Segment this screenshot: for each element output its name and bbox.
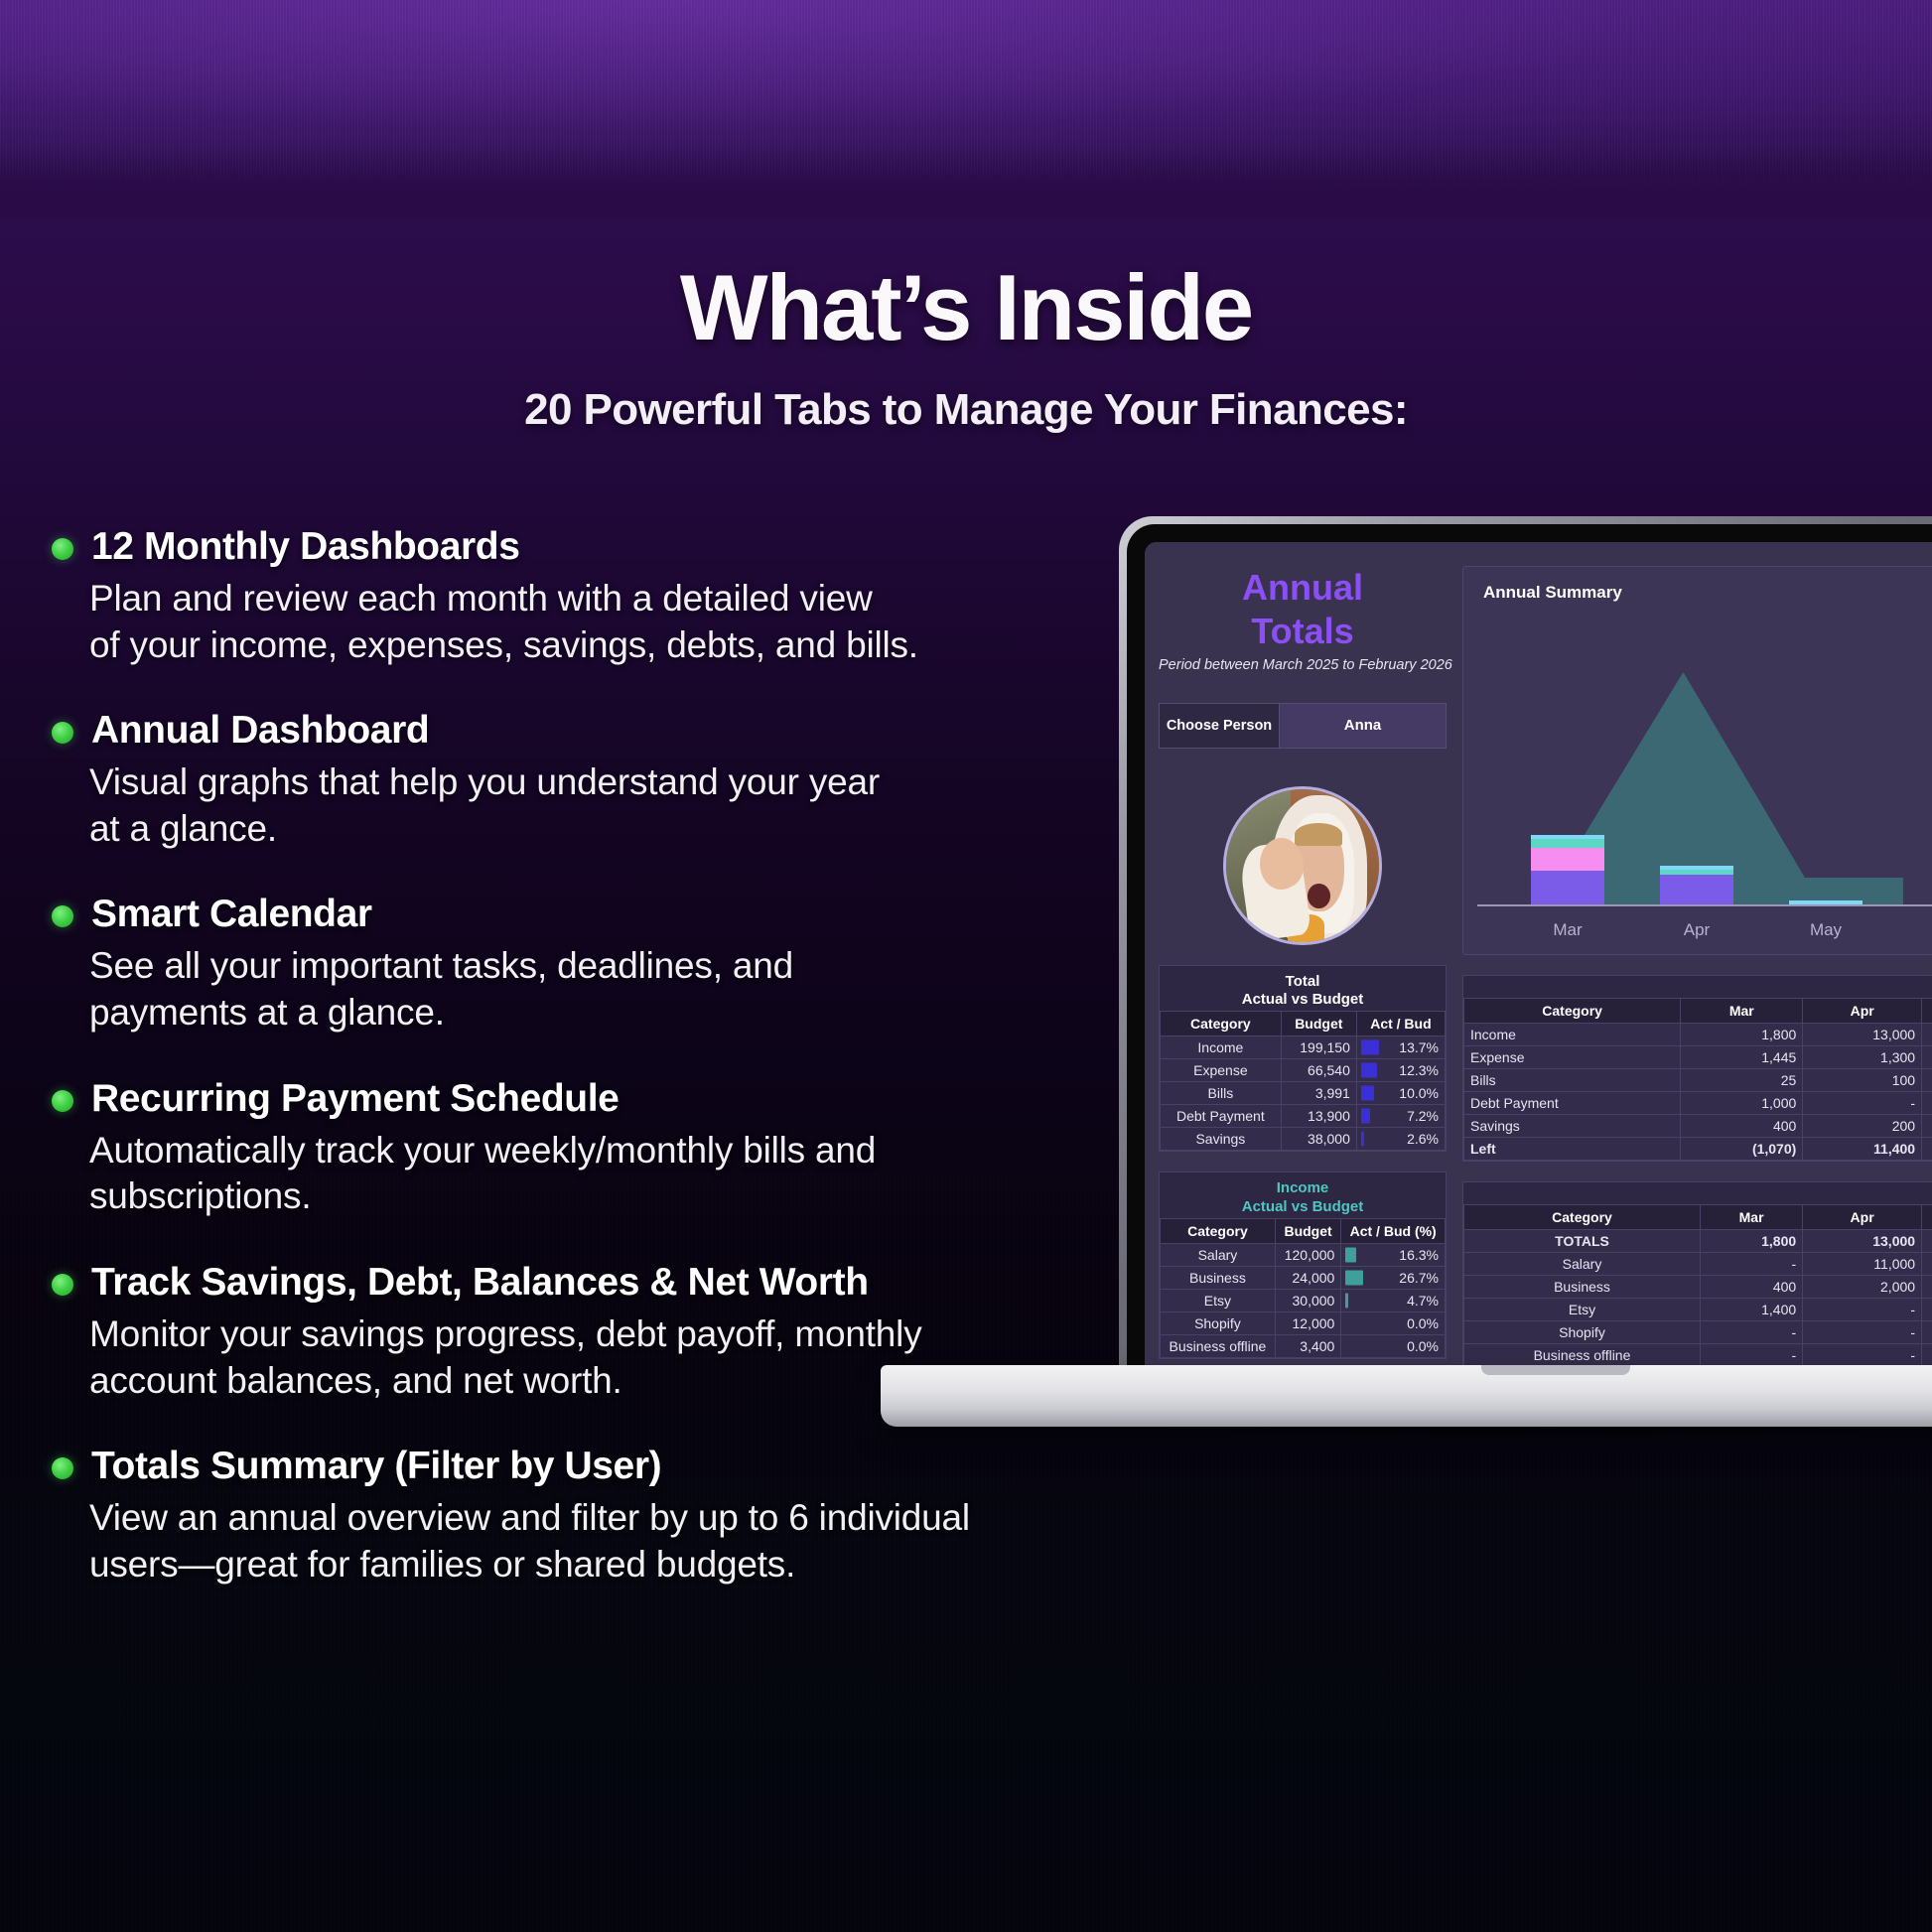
cell-budget: 120,000 [1275, 1244, 1340, 1267]
bullet-dot-icon [52, 1274, 73, 1296]
cell-budget: 199,150 [1281, 1036, 1356, 1059]
cell-apr: 200 [1803, 1115, 1922, 1138]
income-panel-title-line1: Income [1160, 1179, 1446, 1197]
total-panel-title-line1: Total [1160, 973, 1446, 991]
table-row: Debt Payment1,000- [1464, 1092, 1932, 1115]
laptop-base-notch [1481, 1365, 1630, 1375]
th-act-bud: Act / Bud [1356, 1012, 1445, 1036]
chart-tick-label: May [1810, 920, 1842, 940]
annual-summary-chart: Annual Summary MarAprMay [1462, 566, 1932, 955]
cell-category: Shopify [1161, 1312, 1276, 1335]
cell-budget: 30,000 [1275, 1290, 1340, 1312]
cell-mar: 1,445 [1681, 1046, 1803, 1069]
cell-pct-text: 4.7% [1407, 1293, 1439, 1309]
cell-category: Salary [1464, 1253, 1701, 1276]
chart-bar-segment [1531, 848, 1604, 871]
table-header-row: Category Budget Act / Bud (%) [1161, 1219, 1446, 1244]
monthly-income-table: Category Mar Apr TOTALS1,80013,000Salary… [1463, 1204, 1932, 1367]
cell-category: TOTALS [1464, 1230, 1701, 1253]
cell-next [1922, 1276, 1932, 1299]
dashboard-left-column: Annual Totals Period between March 2025 … [1159, 552, 1447, 1359]
chart-plot-area [1463, 626, 1932, 906]
cell-next [1922, 1253, 1932, 1276]
feature-item: Smart CalendarSee all your important tas… [46, 892, 1048, 1035]
chart-title: Annual Summary [1483, 583, 1622, 603]
cell-mar: 1,000 [1681, 1092, 1803, 1115]
mini-bar [1345, 1271, 1363, 1286]
th-next-month [1922, 1205, 1932, 1230]
cell-budget: 3,400 [1275, 1335, 1340, 1358]
mini-bar [1361, 1040, 1379, 1055]
feature-heading: Track Savings, Debt, Balances & Net Wort… [91, 1260, 1048, 1306]
feature-body: Automatically track your weekly/monthly … [89, 1128, 1048, 1220]
cell-category: Business [1161, 1267, 1276, 1290]
cell-category: Business [1464, 1276, 1701, 1299]
cell-budget: 12,000 [1275, 1312, 1340, 1335]
cell-apr: - [1803, 1344, 1922, 1367]
annual-totals-heading: Annual Totals [1159, 566, 1447, 653]
cell-mar: 1,400 [1700, 1299, 1802, 1321]
cell-left-apr: 11,400 [1803, 1138, 1922, 1161]
chart-bar-segment [1531, 871, 1604, 904]
cell-pct-text: 0.0% [1407, 1315, 1439, 1331]
cell-act-bud: 13.7% [1356, 1036, 1445, 1059]
avatar-mouth [1308, 884, 1330, 908]
cell-apr: 1,300 [1803, 1046, 1922, 1069]
th-next-month [1922, 999, 1932, 1024]
cell-next [1922, 1046, 1932, 1069]
cell-category: Salary [1161, 1244, 1276, 1267]
cell-act-bud: 26.7% [1341, 1267, 1446, 1290]
cell-next [1922, 1024, 1932, 1046]
cell-next [1922, 1344, 1932, 1367]
avatar-ok-gesture [1268, 846, 1304, 888]
total-panel-title-line2: Actual vs Budget [1160, 991, 1446, 1009]
cell-mar: - [1700, 1344, 1802, 1367]
dashboard-right-column: Annual Summary MarAprMay Category [1462, 552, 1932, 1368]
chart-bar [1660, 866, 1733, 904]
avatar-container [1159, 786, 1447, 945]
table-row: Salary120,00016.3% [1161, 1244, 1446, 1267]
bullet-dot-icon [52, 538, 73, 560]
chart-tick-label: Mar [1553, 920, 1582, 940]
feature-list: 12 Monthly DashboardsPlan and review eac… [46, 524, 1048, 1627]
cell-pct-text: 2.6% [1407, 1131, 1439, 1147]
chart-x-axis [1477, 904, 1932, 906]
feature-heading: Recurring Payment Schedule [91, 1076, 1048, 1122]
annual-heading-line1: Annual [1159, 566, 1447, 610]
period-label: Period between March 2025 to February 20… [1159, 657, 1447, 673]
th-apr: Apr [1803, 1205, 1922, 1230]
table-row: Salary-11,000 [1464, 1253, 1932, 1276]
cell-budget: 66,540 [1281, 1059, 1356, 1082]
chart-bar [1531, 835, 1604, 904]
page-title: What’s Inside [0, 261, 1932, 354]
mini-bar [1361, 1086, 1374, 1101]
cell-next [1922, 1321, 1932, 1344]
mini-bar [1345, 1248, 1356, 1263]
cell-act-bud: 2.6% [1356, 1128, 1445, 1151]
cell-category: Savings [1161, 1128, 1282, 1151]
cell-apr: - [1803, 1092, 1922, 1115]
avatar [1223, 786, 1382, 945]
table-row: Expense1,4451,300 [1464, 1046, 1932, 1069]
background-top-fade [0, 149, 1932, 218]
feature-body: Visual graphs that help you understand y… [89, 759, 1048, 852]
cell-next [1922, 1069, 1932, 1092]
cell-act-bud: 4.7% [1341, 1290, 1446, 1312]
income-budget-table: Category Budget Act / Bud (%) Salary120,… [1160, 1218, 1446, 1358]
monthly-income-panel: Category Mar Apr TOTALS1,80013,000Salary… [1462, 1181, 1932, 1368]
mini-bar [1361, 1063, 1377, 1078]
cell-category: Expense [1464, 1046, 1681, 1069]
cell-act-bud: 12.3% [1356, 1059, 1445, 1082]
table-row: Income1,80013,000 [1464, 1024, 1932, 1046]
cell-act-bud: 10.0% [1356, 1082, 1445, 1105]
cell-apr: - [1803, 1299, 1922, 1321]
laptop-mockup: Annual Totals Period between March 2025 … [1119, 516, 1932, 1410]
feature-body: See all your important tasks, deadlines,… [89, 943, 1048, 1035]
page-subtitle: 20 Powerful Tabs to Manage Your Finances… [0, 385, 1932, 435]
mini-bar [1361, 1132, 1364, 1147]
th-mar: Mar [1681, 999, 1803, 1024]
cell-category: Debt Payment [1161, 1105, 1282, 1128]
table-footer-row: Left(1,070)11,400 [1464, 1138, 1932, 1161]
table-row: Shopify12,0000.0% [1161, 1312, 1446, 1335]
choose-person-label: Choose Person [1160, 704, 1280, 748]
cell-category: Bills [1161, 1082, 1282, 1105]
cell-act-bud: 7.2% [1356, 1105, 1445, 1128]
laptop-base [881, 1365, 1932, 1427]
bullet-dot-icon [52, 1457, 73, 1479]
cell-apr: 100 [1803, 1069, 1922, 1092]
cell-budget: 24,000 [1275, 1267, 1340, 1290]
slide-canvas: What’s Inside 20 Powerful Tabs to Manage… [0, 0, 1932, 1932]
chart-bar-segment [1660, 875, 1733, 904]
th-category: Category [1161, 1219, 1276, 1244]
table-row: Savings400200 [1464, 1115, 1932, 1138]
th-category: Category [1161, 1012, 1282, 1036]
bullet-dot-icon [52, 722, 73, 744]
cell-next [1922, 1230, 1932, 1253]
total-actual-vs-budget-panel: Total Actual vs Budget Category Budget A… [1159, 965, 1447, 1153]
cell-category: Etsy [1464, 1299, 1701, 1321]
cell-pct-text: 12.3% [1399, 1062, 1439, 1078]
cell-category: Savings [1464, 1115, 1681, 1138]
table-row: Income199,15013.7% [1161, 1036, 1446, 1059]
cell-category: Bills [1464, 1069, 1681, 1092]
cell-mar: 400 [1681, 1115, 1803, 1138]
mini-bar [1345, 1294, 1348, 1309]
chart-bar-segment [1531, 839, 1604, 848]
monthly-totals-panel-head [1463, 976, 1932, 998]
feature-item: Annual DashboardVisual graphs that help … [46, 708, 1048, 852]
monthly-income-panel-head [1463, 1182, 1932, 1204]
laptop-screen: Annual Totals Period between March 2025 … [1145, 542, 1932, 1368]
annual-heading-line2: Totals [1159, 610, 1447, 653]
feature-heading: Annual Dashboard [91, 708, 1048, 754]
th-apr: Apr [1803, 999, 1922, 1024]
cell-category: Income [1161, 1036, 1282, 1059]
income-panel-title: Income Actual vs Budget [1160, 1173, 1446, 1218]
feature-item: Recurring Payment ScheduleAutomatically … [46, 1076, 1048, 1220]
cell-pct-text: 10.0% [1399, 1085, 1439, 1101]
cell-left-label: Left [1464, 1138, 1681, 1161]
cell-budget: 13,900 [1281, 1105, 1356, 1128]
total-budget-table: Category Budget Act / Bud Income199,1501… [1160, 1011, 1446, 1151]
cell-category: Etsy [1161, 1290, 1276, 1312]
th-act-bud-pct: Act / Bud (%) [1341, 1219, 1446, 1244]
cell-apr: 13,000 [1803, 1230, 1922, 1253]
cell-apr: 13,000 [1803, 1024, 1922, 1046]
cell-mar: - [1700, 1321, 1802, 1344]
cell-pct-text: 0.0% [1407, 1338, 1439, 1354]
avatar-hair [1295, 823, 1342, 846]
cell-mar: 25 [1681, 1069, 1803, 1092]
table-header-row: Category Mar Apr [1464, 999, 1932, 1024]
spreadsheet-dashboard: Annual Totals Period between March 2025 … [1145, 542, 1932, 1368]
cell-category: Shopify [1464, 1321, 1701, 1344]
total-panel-title: Total Actual vs Budget [1160, 966, 1446, 1012]
choose-person-row[interactable]: Choose Person Anna [1159, 703, 1447, 749]
cell-mar: - [1700, 1253, 1802, 1276]
table-header-row: Category Mar Apr [1464, 1205, 1932, 1230]
cell-category: Business offline [1161, 1335, 1276, 1358]
cell-mar: 1,800 [1700, 1230, 1802, 1253]
cell-apr: - [1803, 1321, 1922, 1344]
th-mar: Mar [1700, 1205, 1802, 1230]
th-budget: Budget [1275, 1219, 1340, 1244]
table-row: Bills25100 [1464, 1069, 1932, 1092]
cell-apr: 2,000 [1803, 1276, 1922, 1299]
feature-heading: 12 Monthly Dashboards [91, 524, 1048, 570]
choose-person-value[interactable]: Anna [1280, 704, 1446, 748]
table-row: Shopify-- [1464, 1321, 1932, 1344]
mini-bar [1361, 1109, 1370, 1124]
th-budget: Budget [1281, 1012, 1356, 1036]
cell-category: Income [1464, 1024, 1681, 1046]
income-actual-vs-budget-panel: Income Actual vs Budget Category Budget … [1159, 1172, 1447, 1359]
table-header-row: Category Budget Act / Bud [1161, 1012, 1446, 1036]
table-row: Savings38,0002.6% [1161, 1128, 1446, 1151]
th-category: Category [1464, 1205, 1701, 1230]
cell-act-bud: 0.0% [1341, 1312, 1446, 1335]
feature-item: Totals Summary (Filter by User)View an a… [46, 1444, 1048, 1587]
chart-tick-label: Apr [1684, 920, 1710, 940]
table-row: Business offline-- [1464, 1344, 1932, 1367]
cell-mar: 400 [1700, 1276, 1802, 1299]
cell-category: Debt Payment [1464, 1092, 1681, 1115]
cell-mar: 1,800 [1681, 1024, 1803, 1046]
cell-category: Business offline [1464, 1344, 1701, 1367]
table-totals-row: TOTALS1,80013,000 [1464, 1230, 1932, 1253]
monthly-totals-panel: Category Mar Apr Income1,80013,000Expens… [1462, 975, 1932, 1162]
th-category: Category [1464, 999, 1681, 1024]
monthly-totals-table: Category Mar Apr Income1,80013,000Expens… [1463, 998, 1932, 1161]
cell-next [1922, 1092, 1932, 1115]
cell-next [1922, 1299, 1932, 1321]
cell-act-bud: 16.3% [1341, 1244, 1446, 1267]
cell-apr: 11,000 [1803, 1253, 1922, 1276]
cell-pct-text: 13.7% [1399, 1039, 1439, 1055]
cell-category: Expense [1161, 1059, 1282, 1082]
cell-left-mar: (1,070) [1681, 1138, 1803, 1161]
cell-budget: 3,991 [1281, 1082, 1356, 1105]
table-row: Debt Payment13,9007.2% [1161, 1105, 1446, 1128]
table-row: Etsy1,400- [1464, 1299, 1932, 1321]
cell-pct-text: 16.3% [1399, 1247, 1439, 1263]
bullet-dot-icon [52, 1090, 73, 1112]
cell-act-bud: 0.0% [1341, 1335, 1446, 1358]
cell-pct-text: 7.2% [1407, 1108, 1439, 1124]
cell-pct-text: 26.7% [1399, 1270, 1439, 1286]
feature-heading: Smart Calendar [91, 892, 1048, 937]
chart-x-tick-labels: MarAprMay [1463, 920, 1932, 946]
cell-next [1922, 1138, 1932, 1161]
feature-item: 12 Monthly DashboardsPlan and review eac… [46, 524, 1048, 668]
cell-budget: 38,000 [1281, 1128, 1356, 1151]
table-row: Business24,00026.7% [1161, 1267, 1446, 1290]
feature-body: Plan and review each month with a detail… [89, 576, 1048, 668]
table-row: Bills3,99110.0% [1161, 1082, 1446, 1105]
table-row: Business offline3,4000.0% [1161, 1335, 1446, 1358]
table-row: Etsy30,0004.7% [1161, 1290, 1446, 1312]
feature-body: View an annual overview and filter by up… [89, 1495, 1048, 1587]
income-panel-title-line2: Actual vs Budget [1160, 1198, 1446, 1216]
table-row: Expense66,54012.3% [1161, 1059, 1446, 1082]
table-row: Business4002,000 [1464, 1276, 1932, 1299]
bullet-dot-icon [52, 905, 73, 927]
cell-next [1922, 1115, 1932, 1138]
